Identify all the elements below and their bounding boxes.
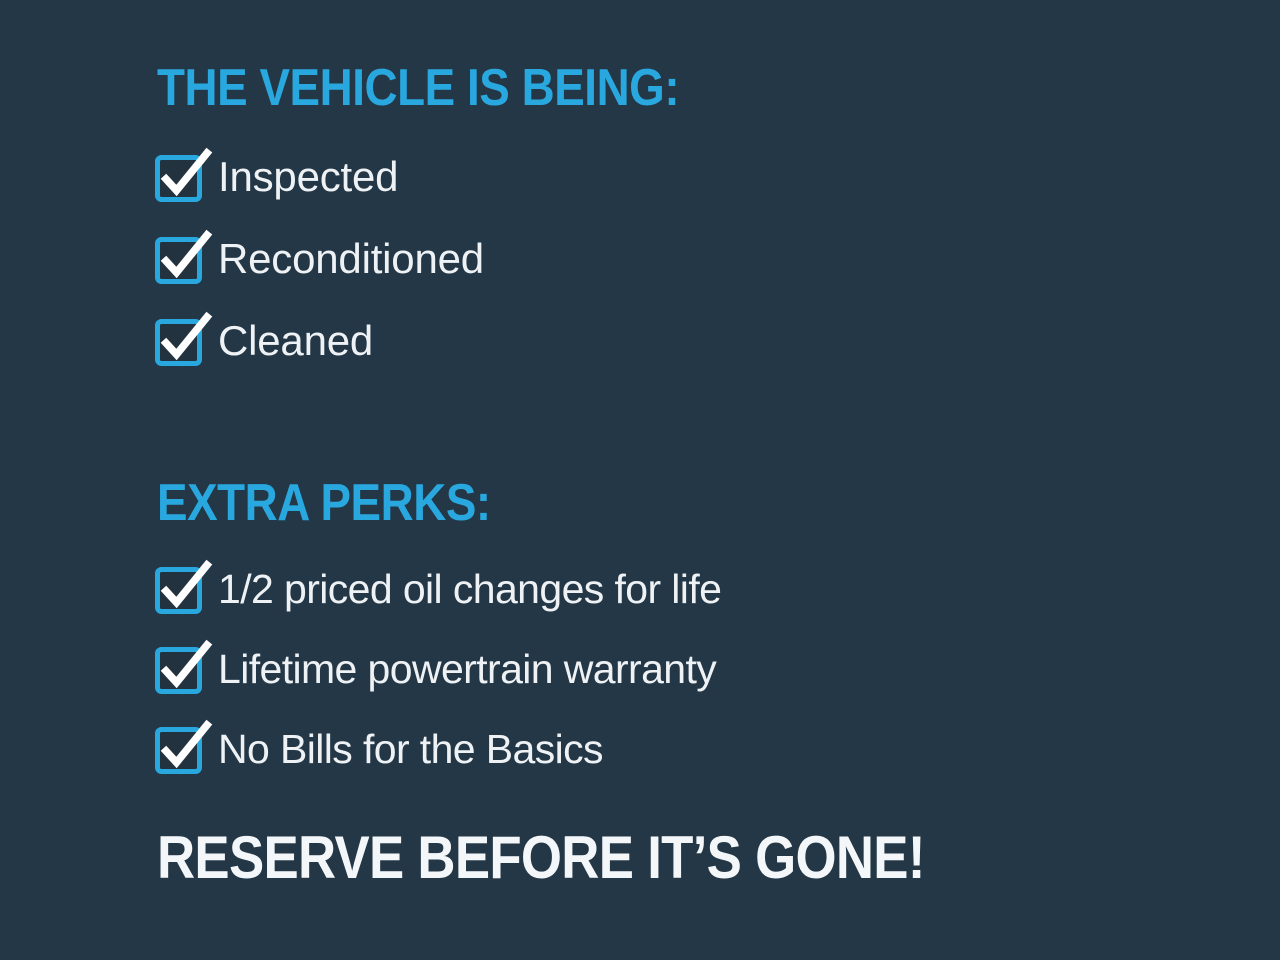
checkbox-checked-icon[interactable] <box>157 319 202 364</box>
checklist-item-oil-changes[interactable]: 1/2 priced oil changes for life <box>157 549 1177 629</box>
checkbox-checked-icon[interactable] <box>157 567 202 612</box>
checklist-item-powertrain-warranty[interactable]: Lifetime powertrain warranty <box>157 629 1177 709</box>
checklist-item-label: Reconditioned <box>218 236 484 282</box>
section-heading-extra-perks: EXTRA PERKS: <box>157 477 1055 529</box>
checkbox-checked-icon[interactable] <box>157 155 202 200</box>
section-heading-vehicle: THE VEHICLE IS BEING: <box>157 62 1055 114</box>
checklist-item-label: No Bills for the Basics <box>218 726 603 772</box>
call-to-action-headline: RESERVE BEFORE IT’S GONE! <box>157 828 925 888</box>
checklist-extra-perks: 1/2 priced oil changes for life Lifetime… <box>157 549 1177 789</box>
checkbox-checked-icon[interactable] <box>157 647 202 692</box>
checklist-item-label: Lifetime powertrain warranty <box>218 646 716 692</box>
checklist-item-label: Cleaned <box>218 318 373 364</box>
section-extra-perks: EXTRA PERKS: 1/2 priced oil changes for … <box>157 477 1177 789</box>
section-vehicle: THE VEHICLE IS BEING: Inspected <box>157 62 1177 382</box>
checklist-vehicle: Inspected Reconditioned <box>157 136 1177 382</box>
checkbox-checked-icon[interactable] <box>157 727 202 772</box>
checkbox-checked-icon[interactable] <box>157 237 202 282</box>
checklist-item-label: Inspected <box>218 154 398 200</box>
checklist-item-no-bills-basics[interactable]: No Bills for the Basics <box>157 709 1177 789</box>
checklist-item-cleaned[interactable]: Cleaned <box>157 300 1177 382</box>
content-column: THE VEHICLE IS BEING: Inspected <box>157 62 1177 789</box>
checklist-item-reconditioned[interactable]: Reconditioned <box>157 218 1177 300</box>
checklist-item-label: 1/2 priced oil changes for life <box>218 566 721 612</box>
promo-poster: THE VEHICLE IS BEING: Inspected <box>0 0 1280 960</box>
checklist-item-inspected[interactable]: Inspected <box>157 136 1177 218</box>
